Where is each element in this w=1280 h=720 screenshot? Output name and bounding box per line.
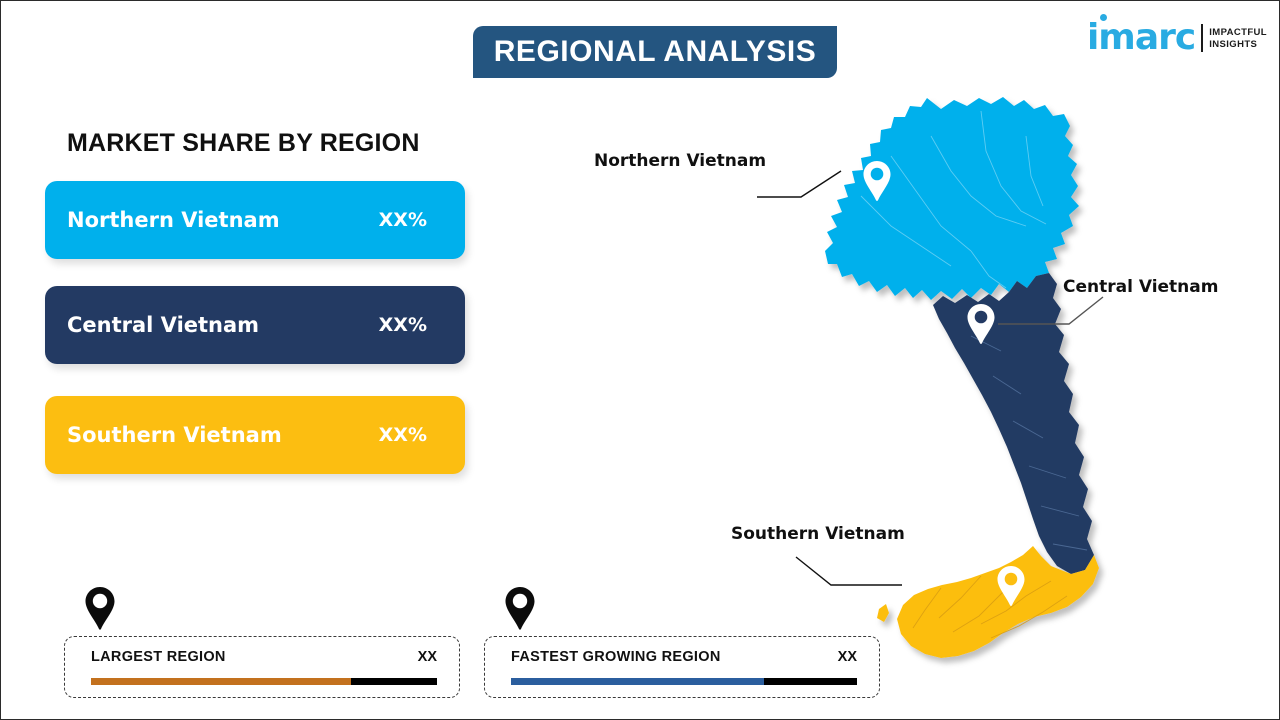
- legend-item-label: Central Vietnam: [67, 313, 379, 337]
- largest-region-card: LARGEST REGION XX: [64, 636, 460, 698]
- imarc-logo: imarc IMPACTFUL INSIGHTS: [1087, 15, 1267, 55]
- legend-item-central-vietnam[interactable]: Central Vietnam XX%: [45, 286, 465, 364]
- legend-item-value: XX%: [379, 314, 427, 336]
- vietnam-map: [821, 76, 1141, 701]
- logo-tagline: IMPACTFUL INSIGHTS: [1209, 27, 1267, 51]
- slide-canvas: REGIONAL ANALYSIS imarc IMPACTFUL INSIGH…: [0, 0, 1280, 720]
- map-callout-central-vietnam: Central Vietnam: [1063, 277, 1218, 297]
- map-island-phu-quoc: [877, 604, 889, 622]
- largest-region-progress-track: [91, 678, 437, 685]
- legend-item-southern-vietnam[interactable]: Southern Vietnam XX%: [45, 396, 465, 474]
- stat-row: FASTEST GROWING REGION XX: [511, 649, 857, 665]
- logo-divider: [1201, 24, 1203, 52]
- legend-item-label: Southern Vietnam: [67, 423, 379, 447]
- map-callout-southern-vietnam: Southern Vietnam: [731, 524, 905, 544]
- fastest-growing-region-progress-fill: [511, 678, 764, 685]
- legend-item-value: XX%: [379, 424, 427, 446]
- map-pin-icon: [503, 585, 537, 636]
- map-region-central-vietnam: [933, 273, 1094, 574]
- stat-label: FASTEST GROWING REGION: [511, 649, 721, 665]
- fastest-growing-region-progress-track: [511, 678, 857, 685]
- legend-heading: MARKET SHARE BY REGION: [67, 129, 420, 158]
- map-callout-northern-vietnam: Northern Vietnam: [594, 151, 766, 171]
- stat-row: LARGEST REGION XX: [91, 649, 437, 665]
- logo-wordmark: imarc: [1087, 21, 1195, 55]
- logo-wordmark-text: imarc: [1087, 17, 1195, 58]
- logo-dot-icon: [1100, 14, 1107, 21]
- stat-value: XX: [418, 649, 437, 665]
- map-pin-icon: [83, 585, 117, 636]
- page-title: REGIONAL ANALYSIS: [494, 35, 816, 69]
- legend-item-value: XX%: [379, 209, 427, 231]
- legend-item-northern-vietnam[interactable]: Northern Vietnam XX%: [45, 181, 465, 259]
- logo-tagline-line2: INSIGHTS: [1209, 39, 1267, 51]
- logo-tagline-line1: IMPACTFUL: [1209, 27, 1267, 39]
- largest-region-progress-fill: [91, 678, 351, 685]
- page-title-banner: REGIONAL ANALYSIS: [473, 26, 837, 78]
- stat-label: LARGEST REGION: [91, 649, 226, 665]
- legend-item-label: Northern Vietnam: [67, 208, 379, 232]
